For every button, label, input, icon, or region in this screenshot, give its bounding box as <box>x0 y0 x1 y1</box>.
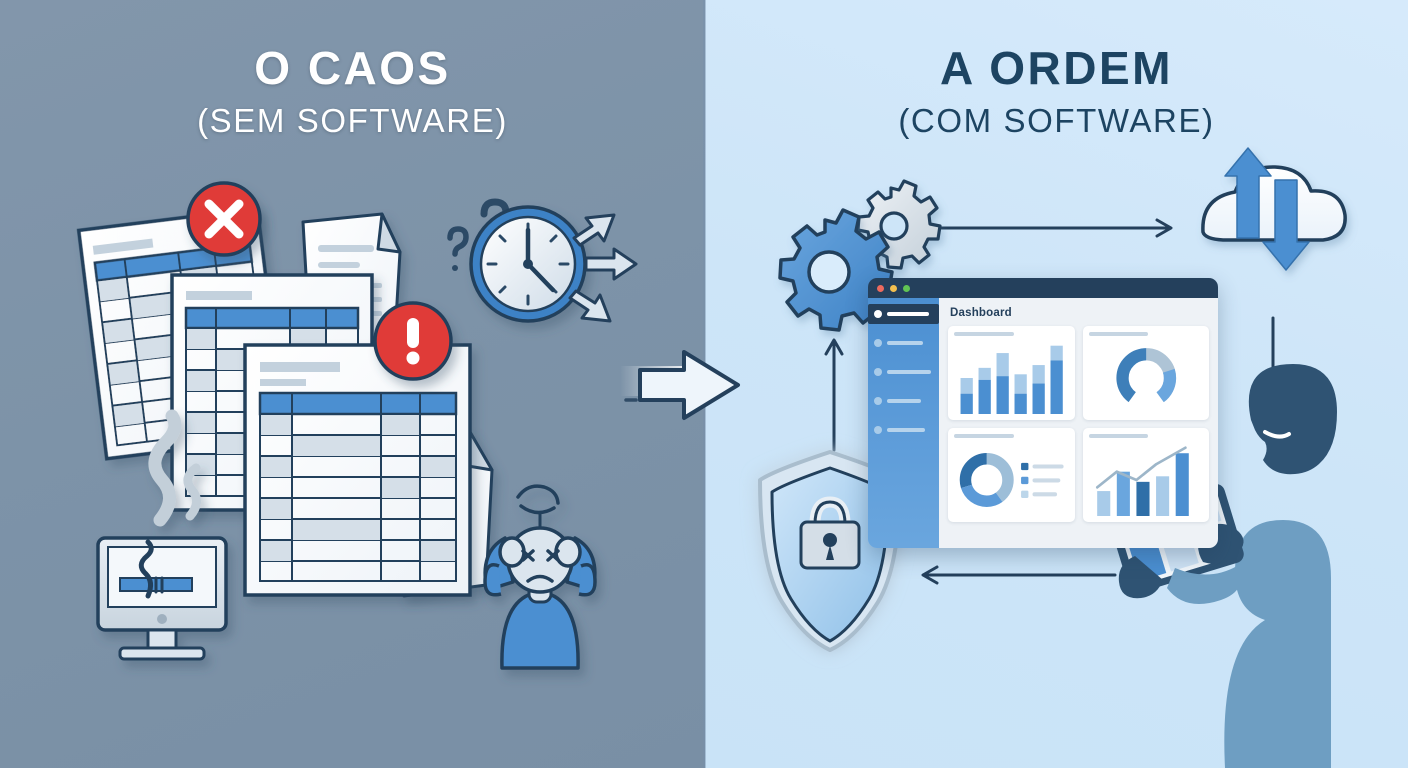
sidebar-item-5[interactable] <box>868 420 939 440</box>
card-title-placeholder <box>1089 332 1149 336</box>
sidebar-item-1-label <box>887 312 929 316</box>
infographic-canvas: Dashboard <box>0 0 1408 768</box>
left-title-sub: (SEM SOFTWARE) <box>0 104 705 137</box>
sidebar-item-5-icon <box>874 426 882 434</box>
sidebar-item-3-icon <box>874 368 882 376</box>
combo-chart <box>1089 444 1204 516</box>
sidebar-item-4-icon <box>874 397 882 405</box>
donut-legend-card[interactable] <box>948 428 1075 522</box>
bar-chart-card[interactable] <box>948 326 1075 420</box>
dashboard-main: Dashboard <box>939 298 1218 548</box>
sidebar-item-4-label <box>887 399 921 403</box>
right-title-block: A ORDEM (COM SOFTWARE) <box>705 45 1408 137</box>
sidebar-item-2-label <box>887 341 923 345</box>
left-title-main: O CAOS <box>0 45 705 91</box>
bar-chart <box>954 342 1069 414</box>
card-title-placeholder <box>1089 434 1149 438</box>
donut-legend <box>1021 463 1064 498</box>
right-title-main: A ORDEM <box>705 45 1408 91</box>
clock-icon <box>471 207 585 321</box>
left-title-block: O CAOS (SEM SOFTWARE) <box>0 45 705 137</box>
card-title-placeholder <box>954 332 1014 336</box>
right-title-sub: (COM SOFTWARE) <box>705 104 1408 137</box>
cloud-sync-icon <box>1203 148 1345 270</box>
stressed-person-icon <box>485 486 595 668</box>
sidebar-item-2[interactable] <box>868 333 939 353</box>
page-title: Dashboard <box>950 307 1209 319</box>
window-minimize-dot[interactable] <box>890 285 897 292</box>
flow-arrow-shield-to-gears <box>826 340 842 450</box>
error-x-badge <box>188 183 260 255</box>
window-title-bar <box>868 278 1218 298</box>
sidebar-item-2-icon <box>874 339 882 347</box>
sidebar-item-3-label <box>887 370 931 374</box>
donut-chart <box>1089 342 1204 414</box>
donut-legend-chart <box>954 444 1069 516</box>
dashboard-window[interactable]: Dashboard <box>868 278 1218 548</box>
window-maximize-dot[interactable] <box>903 285 910 292</box>
sidebar-item-1[interactable] <box>868 304 939 324</box>
sidebar-item-5-label <box>887 428 925 432</box>
flow-arrow-person-to-shield <box>923 567 1115 583</box>
sidebar-item-3[interactable] <box>868 362 939 382</box>
combo-chart-card[interactable] <box>1083 428 1210 522</box>
window-close-dot[interactable] <box>877 285 884 292</box>
spreadsheet-3 <box>245 345 470 595</box>
dashboard-sidebar <box>868 298 939 548</box>
sidebar-item-4[interactable] <box>868 391 939 411</box>
card-title-placeholder <box>954 434 1014 438</box>
donut-chart-card[interactable] <box>1083 326 1210 420</box>
warning-exclamation-badge <box>375 303 451 379</box>
sidebar-item-1-icon <box>874 310 882 318</box>
